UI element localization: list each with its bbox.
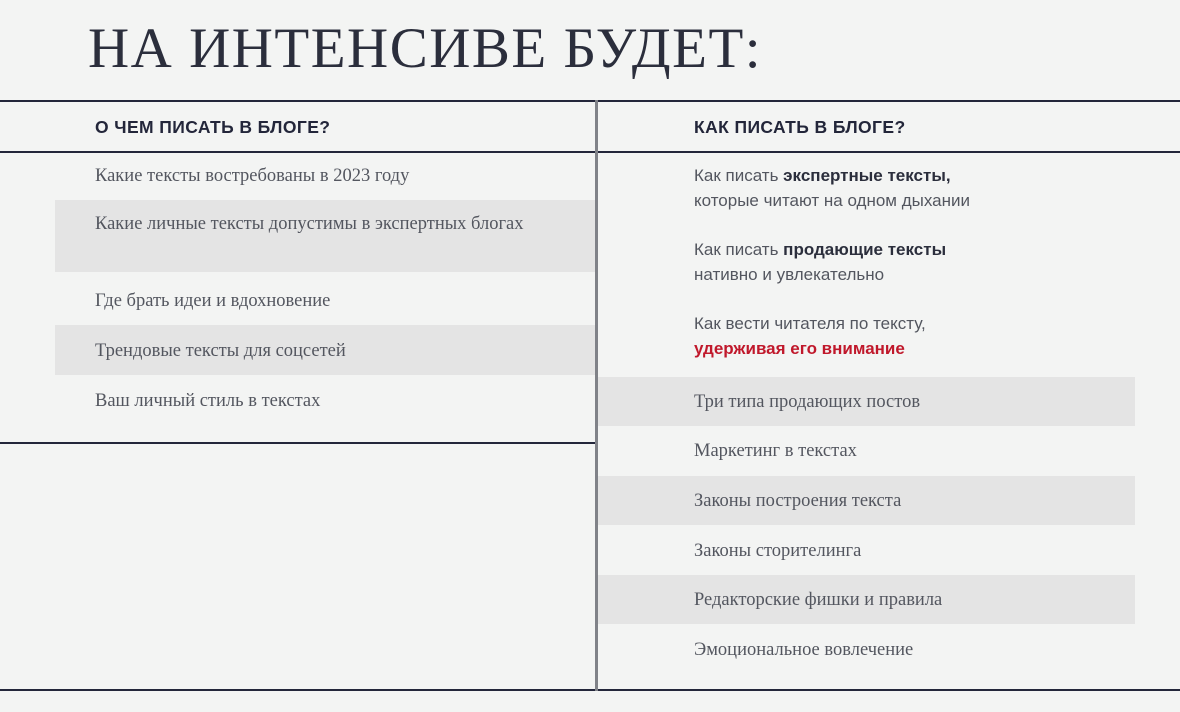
list-item[interactable]: Какие тексты востребованы в 2023 году <box>95 163 565 189</box>
list-item[interactable]: Маркетинг в текстах <box>694 438 1124 464</box>
list-item-line1: Как писать продающие тексты <box>694 240 946 259</box>
list-item[interactable]: Как писать экспертные тексты, которые чи… <box>694 163 1124 213</box>
list-item[interactable]: Какие личные тексты допустимы в экспертн… <box>95 211 565 237</box>
list-item[interactable]: Редакторские фишки и правила <box>694 587 1124 613</box>
list-item[interactable]: Ваш личный стиль в текстах <box>95 388 565 414</box>
list-item[interactable]: Эмоциональное вовлечение <box>694 637 1124 663</box>
list-item[interactable]: Законы построения текста <box>694 488 1124 514</box>
list-item[interactable]: Законы сторителинга <box>694 538 1124 564</box>
rule-top <box>0 100 1180 102</box>
list-item-text-bold: экспертные тексты, <box>783 166 950 185</box>
list-item-text-plain: Как писать <box>694 240 783 259</box>
list-item[interactable]: Как писать продающие тексты нативно и ув… <box>694 237 1124 287</box>
list-item-line2: нативно и увлекательно <box>694 265 884 284</box>
page-title: НА ИНТЕНСИВЕ БУДЕТ: <box>88 14 762 84</box>
rule-left-bottom <box>0 442 598 444</box>
column-left-header: О ЧЕМ ПИСАТЬ В БЛОГЕ? <box>95 117 330 138</box>
rule-bottom <box>0 689 1180 691</box>
list-item[interactable]: Как вести читателя по тексту, удерживая … <box>694 311 1124 361</box>
list-item[interactable]: Трендовые тексты для соцсетей <box>95 338 565 364</box>
list-item[interactable]: Где брать идеи и вдохновение <box>95 288 565 314</box>
slide-root: НА ИНТЕНСИВЕ БУДЕТ: О ЧЕМ ПИСАТЬ В БЛОГЕ… <box>0 0 1180 712</box>
list-item-line1: Как писать экспертные тексты, <box>694 166 951 185</box>
list-item-accent-text: удерживая его внимание <box>694 339 905 358</box>
column-divider <box>595 100 598 691</box>
list-item[interactable]: Три типа продающих постов <box>694 389 1124 415</box>
list-item-line1: Как вести читателя по тексту, <box>694 314 926 333</box>
column-right-header: КАК ПИСАТЬ В БЛОГЕ? <box>694 117 906 138</box>
rule-under-header <box>0 151 1180 153</box>
list-item-text-bold: продающие тексты <box>783 240 946 259</box>
list-item-text-plain: Как писать <box>694 166 783 185</box>
list-item-line2: которые читают на одном дыхании <box>694 191 970 210</box>
